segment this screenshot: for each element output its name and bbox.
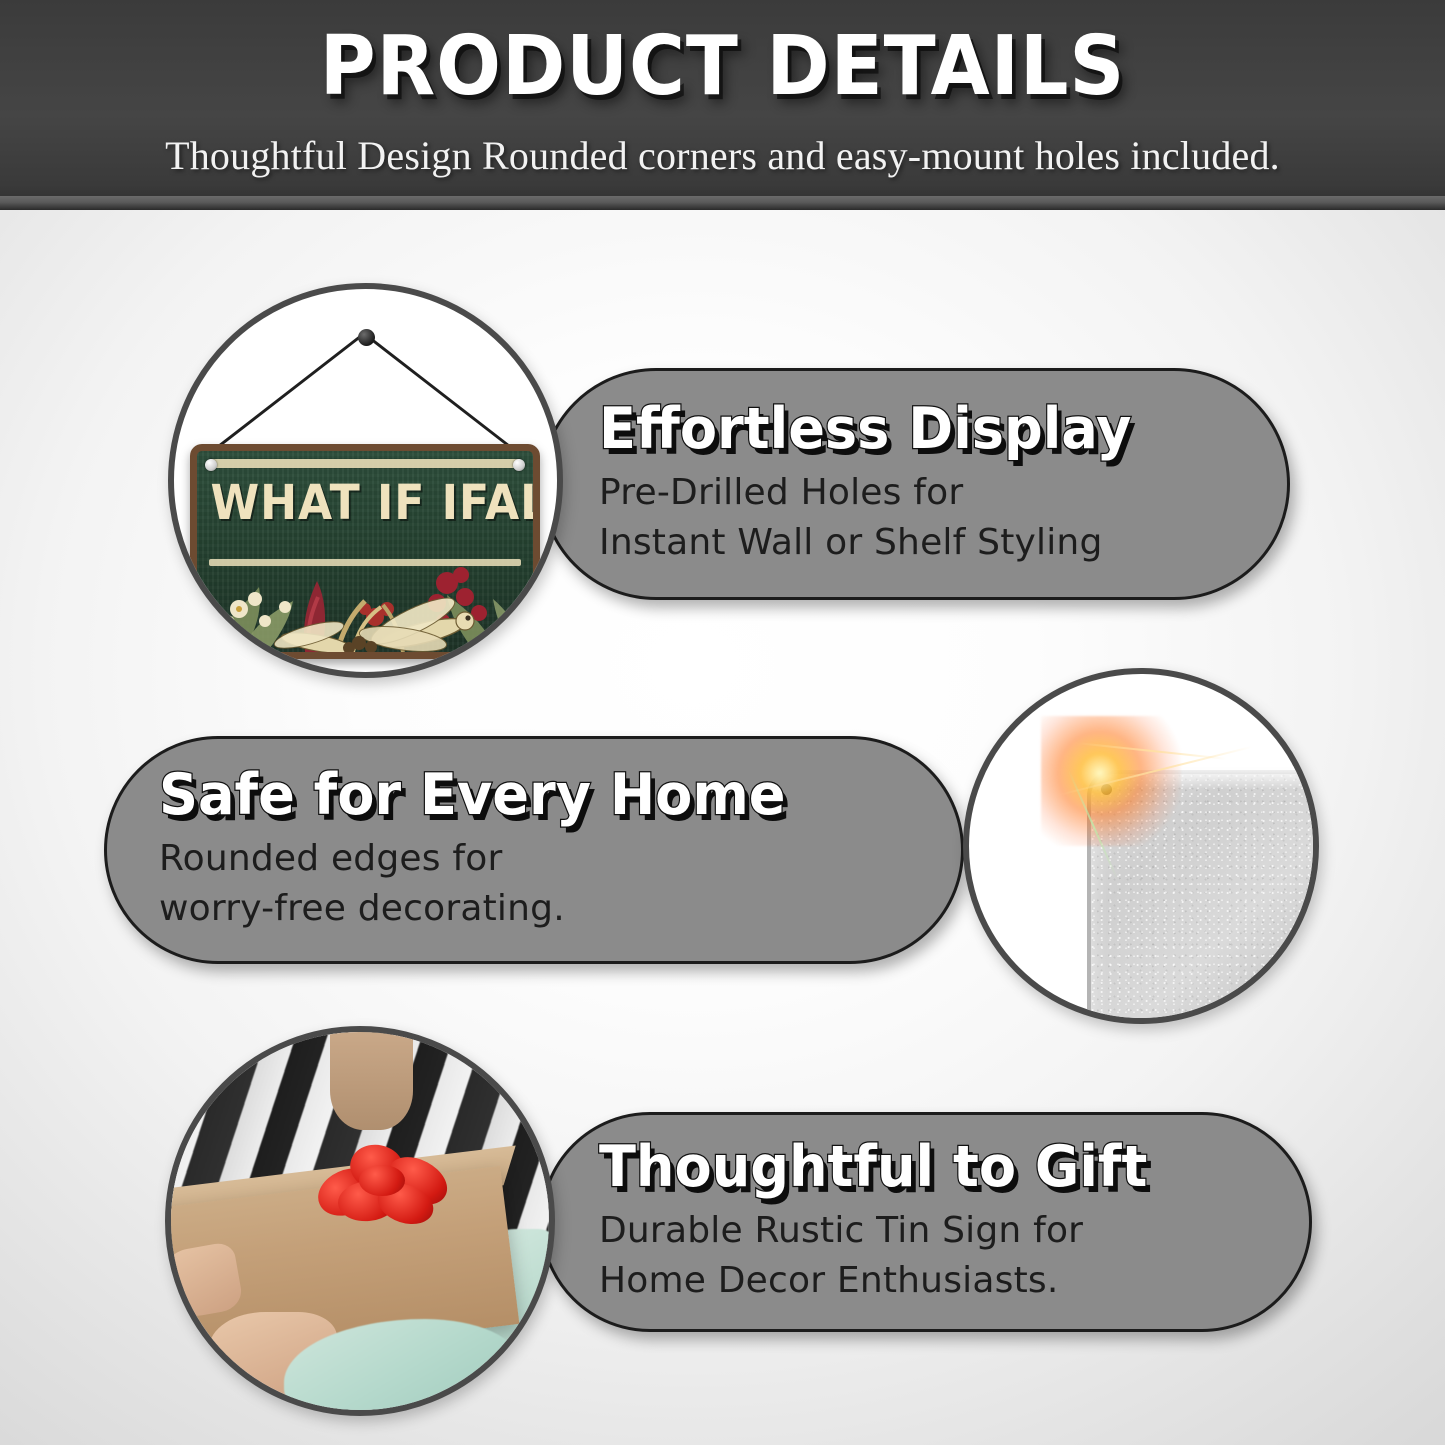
feature-2-body-line2: worry-free decorating. xyxy=(159,884,921,934)
feature-1-body-line2: Instant Wall or Shelf Styling xyxy=(599,518,1247,568)
feature-2-image-circle xyxy=(963,668,1319,1024)
feature-3-body-line1: Durable Rustic Tin Sign for xyxy=(599,1206,1269,1256)
feature-2-pill: Safe for Every Home Rounded edges for wo… xyxy=(104,736,964,964)
feature-1-title: Effortless Display xyxy=(599,400,1215,458)
feature-1-pill: Effortless Display Pre-Drilled Holes for… xyxy=(540,368,1290,600)
feature-3-text-block: Thoughtful to Gift Durable Rustic Tin Si… xyxy=(599,1115,1269,1329)
feature-2-title: Safe for Every Home xyxy=(159,766,883,824)
screw-top-left-icon xyxy=(205,459,217,471)
nail-head-icon xyxy=(358,329,375,346)
person-neck xyxy=(330,1032,413,1130)
feature-2-text-block: Safe for Every Home Rounded edges for wo… xyxy=(159,739,921,961)
header-banner: PRODUCT DETAILS Thoughtful Design Rounde… xyxy=(0,0,1445,210)
feature-3-title: Thoughtful to Gift xyxy=(599,1138,1236,1196)
feature-3-body-line2: Home Decor Enthusiasts. xyxy=(599,1256,1269,1306)
floral-dragonfly-artwork xyxy=(197,547,540,652)
tin-rule-top xyxy=(209,459,521,468)
feature-3-image-circle xyxy=(165,1026,555,1416)
feature-3-pill: Thoughtful to Gift Durable Rustic Tin Si… xyxy=(540,1112,1312,1332)
feature-1-body-line1: Pre-Drilled Holes for xyxy=(599,468,1247,518)
tin-sign-graphic: WHAT IF IFALL? xyxy=(190,444,540,659)
page-title: PRODUCT DETAILS xyxy=(51,26,1395,108)
infographic-canvas: PRODUCT DETAILS Thoughtful Design Rounde… xyxy=(0,0,1445,1445)
feature-1-image-circle: WHAT IF IFALL? xyxy=(168,283,563,678)
red-gift-bow xyxy=(311,1138,462,1229)
screw-top-right-icon xyxy=(513,459,525,471)
page-subtitle: Thoughtful Design Rounded corners and ea… xyxy=(0,132,1445,179)
gift-photo xyxy=(171,1032,549,1410)
tin-sign-text: WHAT IF IFALL? xyxy=(210,475,519,531)
feature-2-body-line1: Rounded edges for xyxy=(159,834,921,884)
feature-1-text-block: Effortless Display Pre-Drilled Holes for… xyxy=(599,371,1247,597)
